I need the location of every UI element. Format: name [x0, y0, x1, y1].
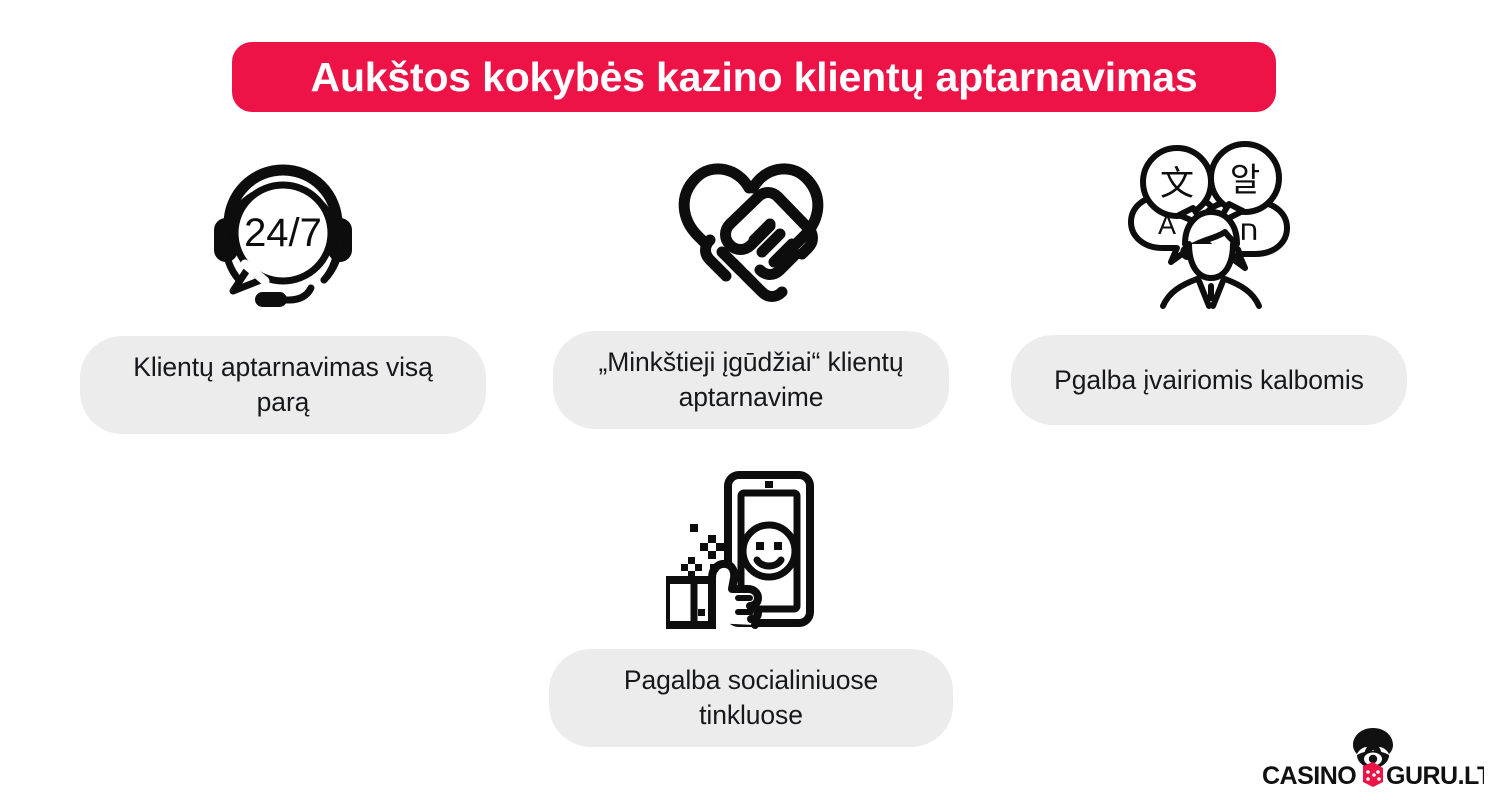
- bubble-glyph-chinese: 文: [1160, 164, 1194, 204]
- infographic-root: Aukštos kokybės kazino klientų aptarnavi…: [0, 0, 1500, 800]
- logo-text-before: CASINO: [1262, 762, 1356, 788]
- card-multilingual-support: 文 A 알 ח: [1011, 140, 1407, 425]
- card-customer-support-247: 24/7 Klientų aptarnavimas visą parą: [80, 140, 486, 434]
- headset-icon-badge-text: 24/7: [244, 211, 322, 255]
- card-label-customer-support-247: Klientų aptarnavimas visą parą: [106, 350, 460, 420]
- thumbs-up-smartphone-smiley-icon: [666, 465, 836, 635]
- card-label-multilingual-support: Pgalba įvairiomis kalbomis: [1054, 363, 1364, 398]
- casino-guru-lt-logo: CASINO GURU.LT: [1262, 726, 1484, 788]
- card-label-pill-customer-support-247: Klientų aptarnavimas visą parą: [80, 336, 486, 434]
- bubble-glyph-hebrew: ח: [1239, 213, 1259, 248]
- page-title-banner: Aukštos kokybės kazino klientų aptarnavi…: [232, 42, 1276, 112]
- multilingual-person-speech-bubbles-icon: 文 A 알 ח: [1119, 140, 1299, 317]
- bubble-glyph-latin: A: [1158, 210, 1176, 240]
- card-label-pill-social-media-support: Pagalba socialiniuose tinkluose: [549, 649, 953, 747]
- handshake-heart-icon: [666, 140, 836, 313]
- card-label-soft-skills: „Minkštieji įgūdžiai“ klientų aptarnavim…: [579, 345, 923, 415]
- card-soft-skills: „Minkštieji įgūdžiai“ klientų aptarnavim…: [553, 140, 949, 429]
- card-social-media-support: Pagalba socialiniuose tinkluose: [549, 465, 953, 747]
- headset-24-7-icon: 24/7: [193, 140, 373, 320]
- logo-text-after: GURU.LT: [1386, 762, 1484, 788]
- card-label-pill-soft-skills: „Minkštieji įgūdžiai“ klientų aptarnavim…: [553, 331, 949, 429]
- bubble-glyph-korean: 알: [1230, 160, 1260, 199]
- card-label-social-media-support: Pagalba socialiniuose tinkluose: [575, 663, 927, 733]
- card-label-pill-multilingual-support: Pgalba įvairiomis kalbomis: [1011, 335, 1407, 425]
- page-title: Aukštos kokybės kazino klientų aptarnavi…: [311, 57, 1198, 98]
